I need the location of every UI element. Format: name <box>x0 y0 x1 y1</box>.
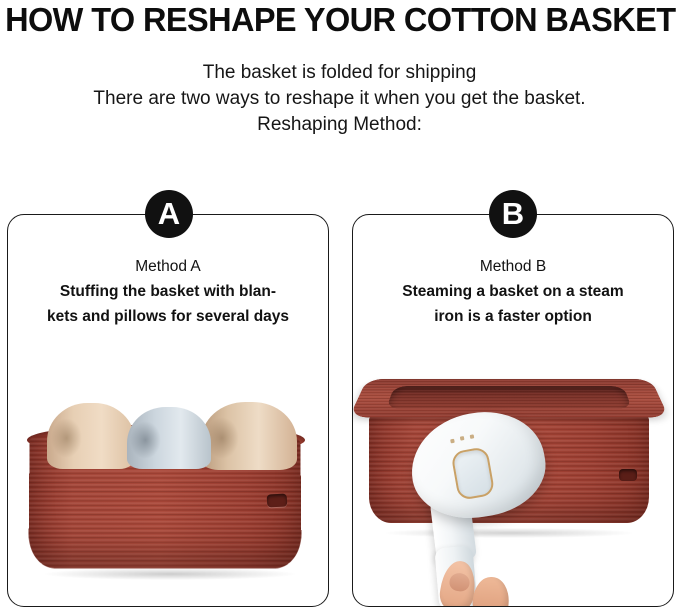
method-b-photo <box>353 351 673 606</box>
steamer-head <box>403 402 553 528</box>
finger <box>472 576 511 606</box>
method-a-caption: Method A Stuffing the basket with blan- … <box>8 254 328 329</box>
method-a-body-line-2: kets and pillows for several days <box>8 304 328 329</box>
subtitle-line-2: There are two ways to reshape it when yo… <box>0 86 679 112</box>
method-a-body-line-1: Stuffing the basket with blan- <box>8 279 328 304</box>
blanket-coil-shading <box>51 418 83 459</box>
method-b-body-line-2: iron is a faster option <box>353 304 673 329</box>
method-panel-a: Method A Stuffing the basket with blan- … <box>7 214 329 607</box>
steamer-indicator-icon <box>450 439 455 444</box>
subtitle-block: The basket is folded for shipping There … <box>0 60 679 138</box>
rolled-blanket-gray <box>127 407 211 469</box>
handheld-garment-steamer <box>353 351 673 606</box>
method-a-photo <box>8 351 328 606</box>
subtitle-line-1: The basket is folded for shipping <box>0 60 679 86</box>
blanket-coil-shading <box>130 421 160 459</box>
steamer-indicator-icon <box>460 436 465 441</box>
subtitle-line-3: Reshaping Method: <box>0 112 679 138</box>
basket-drop-shadow <box>45 568 295 580</box>
page-title: HOW TO RESHAPE YOUR COTTON BASKET <box>5 0 674 40</box>
method-a-badge: A <box>145 190 193 238</box>
method-b-body-line-1: Steaming a basket on a steam <box>353 279 673 304</box>
rolled-blanket-tan <box>201 402 297 470</box>
steamer-indicator-icon <box>470 434 475 439</box>
method-b-caption: Method B Steaming a basket on a steam ir… <box>353 254 673 329</box>
thumbnail <box>448 572 470 593</box>
method-b-badge: B <box>489 190 537 238</box>
method-a-title: Method A <box>8 254 328 279</box>
method-b-title: Method B <box>353 254 673 279</box>
method-panel-b: Method B Steaming a basket on a steam ir… <box>352 214 674 607</box>
rolled-blanket-beige <box>47 403 135 469</box>
hand-holding-steamer <box>439 555 531 606</box>
cotton-rope-basket-filled <box>23 401 313 586</box>
basket-handle-cutout <box>267 493 288 507</box>
steamer-power-button <box>450 446 495 501</box>
